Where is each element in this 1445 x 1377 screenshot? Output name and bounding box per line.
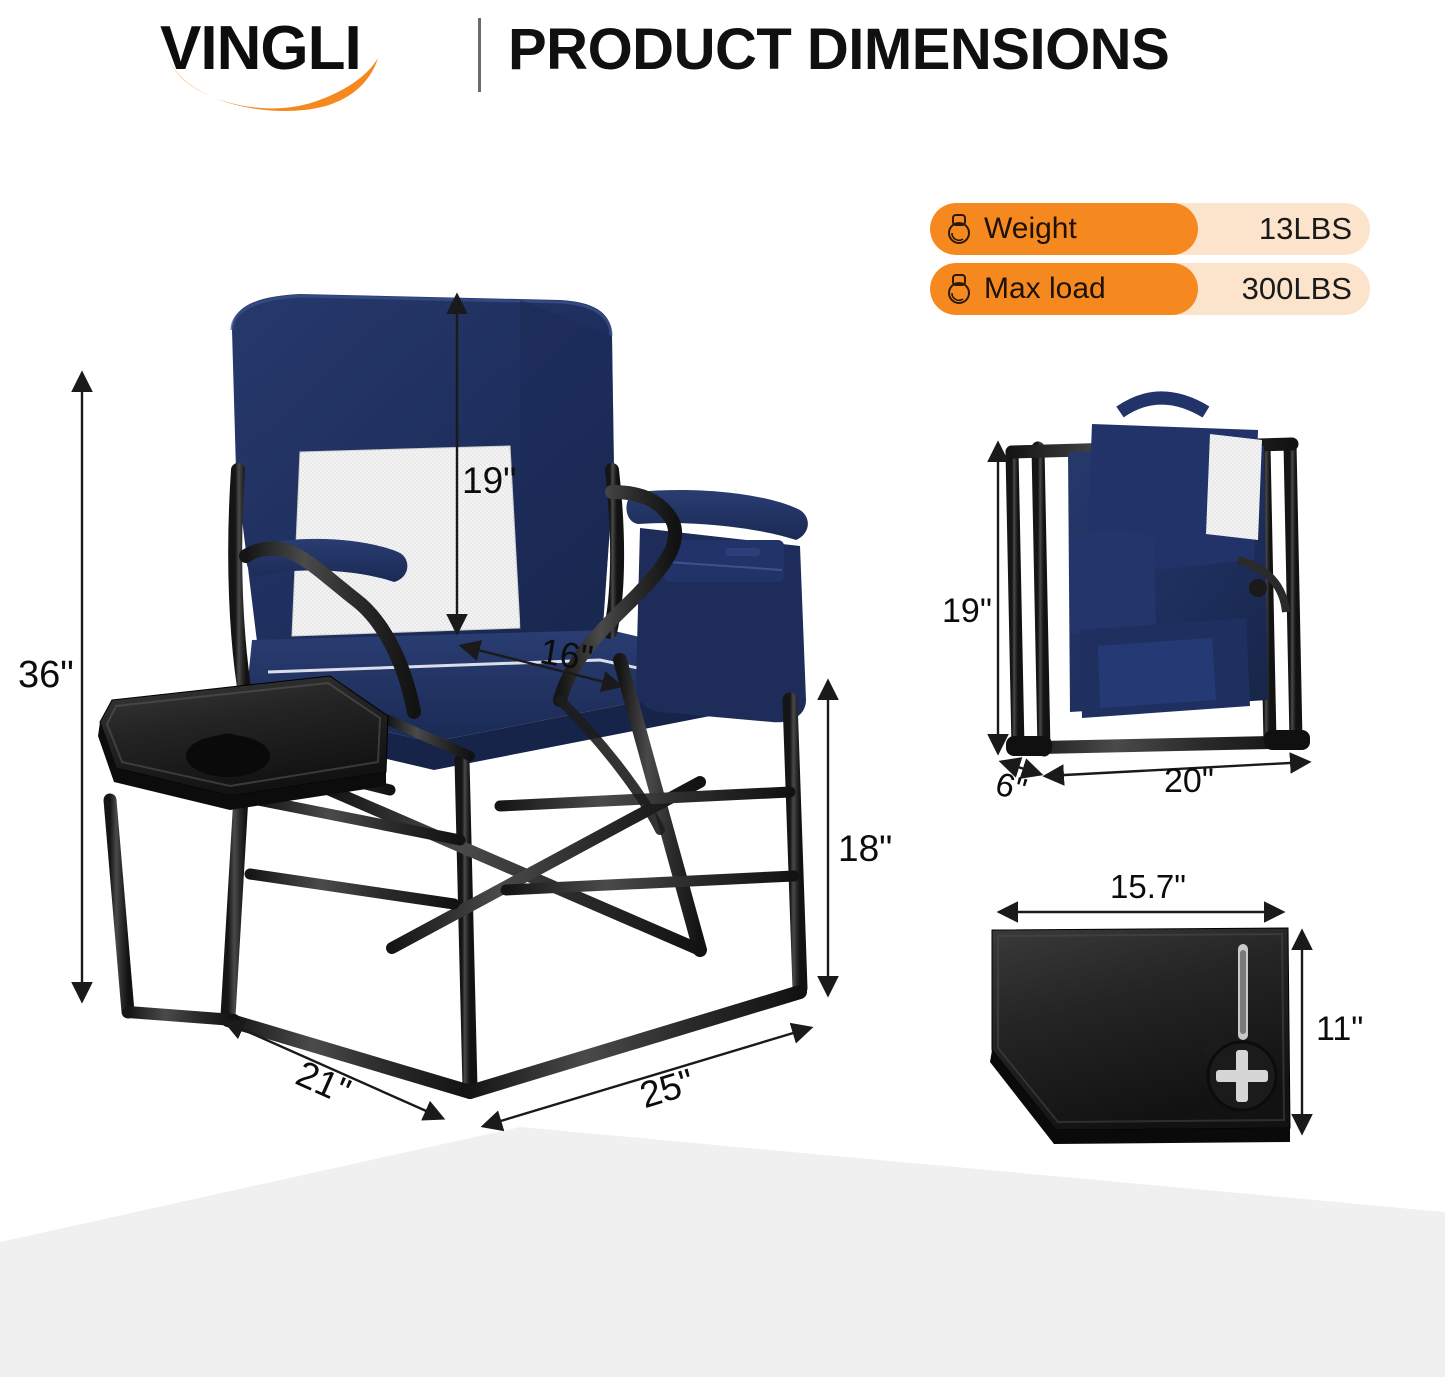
chair-armrest-right: [626, 490, 807, 722]
dimension-label-overall-height: 36": [18, 654, 74, 697]
dimension-label-seat-depth: 16": [537, 630, 596, 680]
dimension-label-table-depth: 11": [1316, 1010, 1363, 1049]
dimension-label-table-width: 15.7": [1110, 868, 1186, 906]
dimension-label-folded-height: 19": [942, 592, 992, 631]
main-chair-illustration: [0, 0, 1445, 1377]
side-table-attached: [98, 676, 388, 810]
dimension-label-backrest-height: 19": [462, 460, 516, 502]
product-dimensions-infographic: VINGLI PRODUCT DIMENSIONS Weight: [0, 0, 1445, 1377]
chair-backrest: [232, 294, 614, 650]
dimension-label-seat-height: 18": [838, 828, 892, 870]
folded-chair-illustration: [1006, 398, 1310, 756]
dimension-label-folded-width: 20": [1164, 762, 1214, 801]
side-table-illustration: [990, 928, 1290, 1144]
